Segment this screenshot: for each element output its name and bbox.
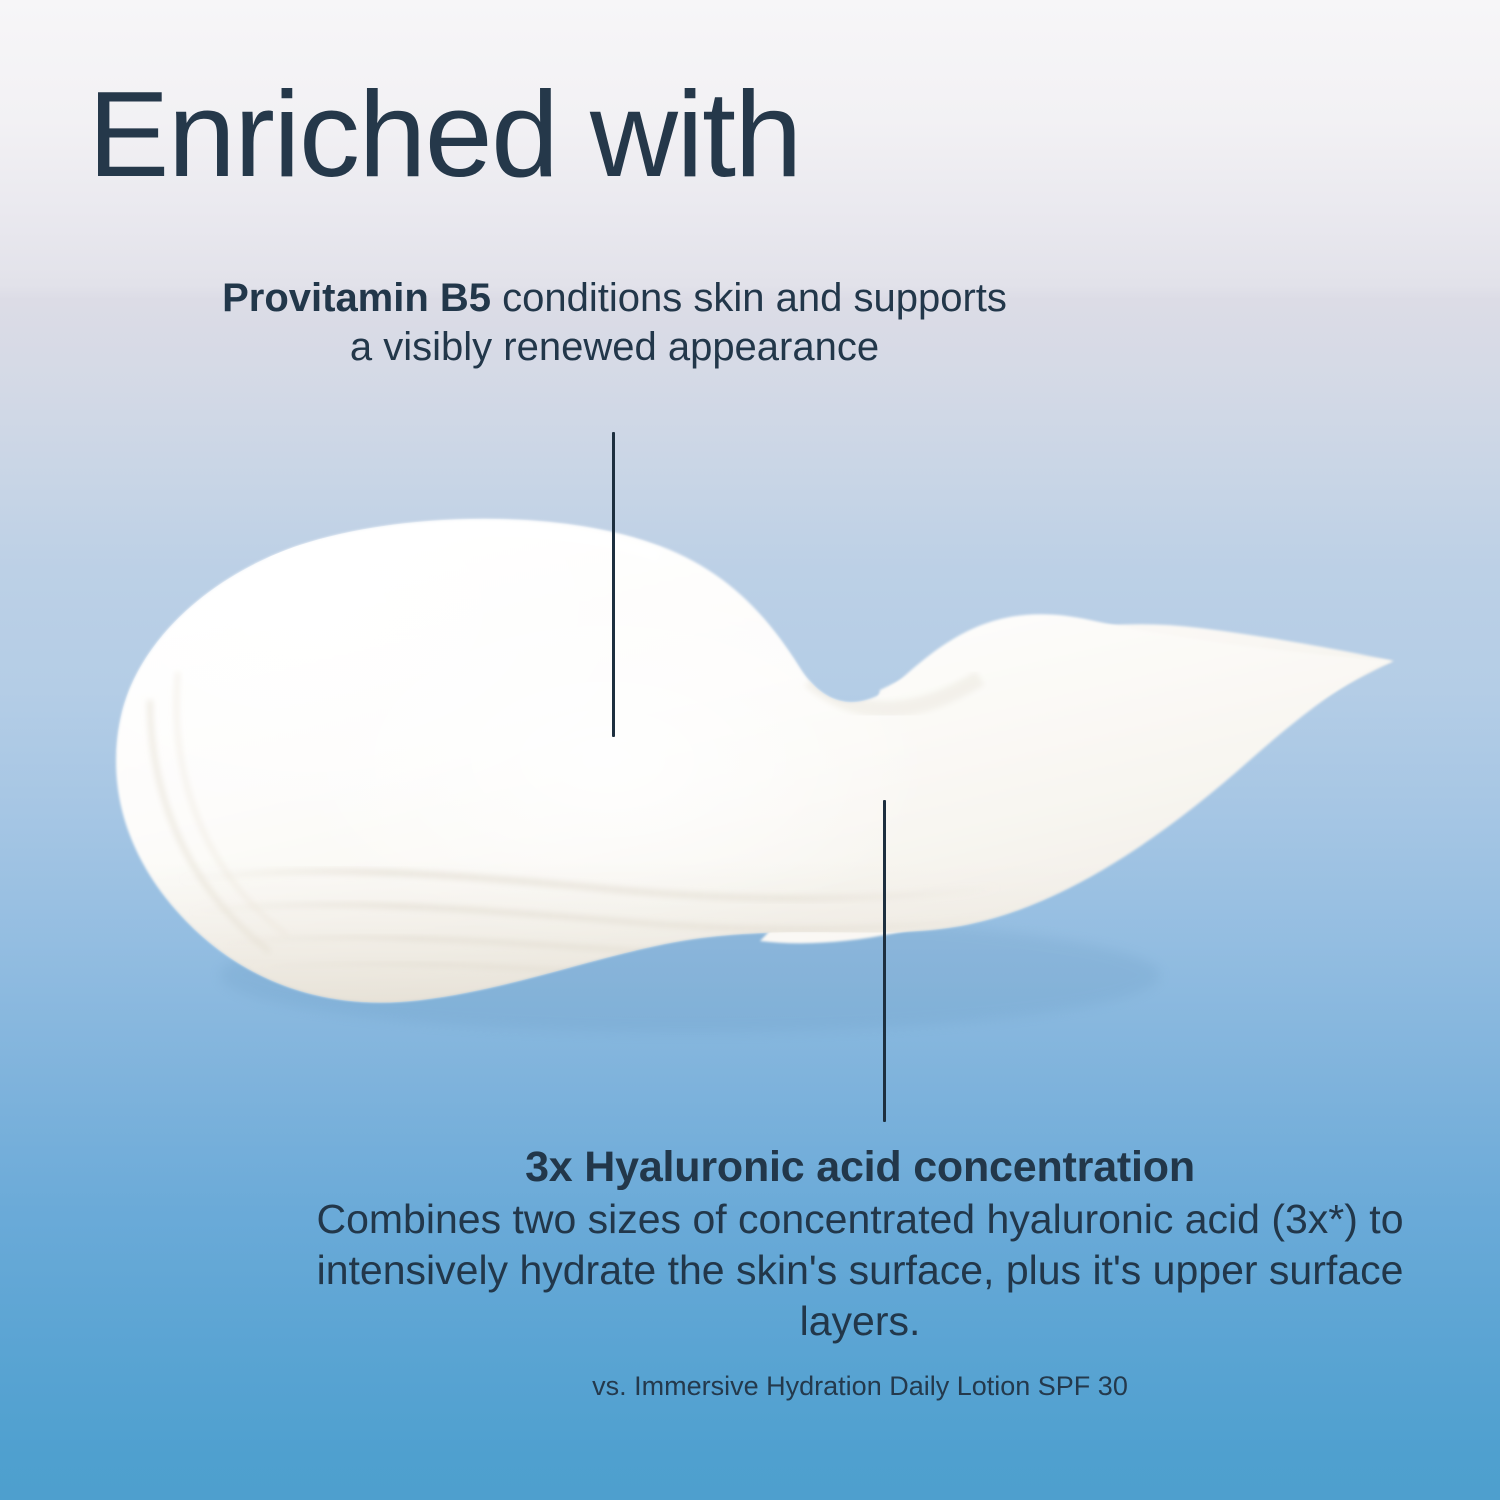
page-title: Enriched with bbox=[88, 73, 801, 195]
callout-ha-body: Combines two sizes of concentrated hyalu… bbox=[316, 1196, 1403, 1344]
leader-line-hyaluronic-acid bbox=[883, 800, 886, 1122]
callout-b5-lead: Provitamin B5 bbox=[222, 276, 491, 320]
swatch-shading bbox=[100, 490, 1100, 1020]
product-feature-image: Enriched with Provitamin B5 conditions s… bbox=[0, 0, 1500, 1500]
leader-line-provitamin-b5 bbox=[612, 432, 615, 737]
swatch-body bbox=[116, 519, 1392, 1003]
callout-hyaluronic-acid: 3x Hyaluronic acid concentrationCombines… bbox=[300, 1140, 1420, 1347]
swatch-tail bbox=[760, 624, 1394, 943]
callout-ha-heading: 3x Hyaluronic acid concentration bbox=[300, 1140, 1420, 1194]
callout-provitamin-b5: Provitamin B5 conditions skin and suppor… bbox=[222, 274, 1007, 372]
swatch-shadow bbox=[220, 917, 1160, 1033]
footnote-disclaimer: vs. Immersive Hydration Daily Lotion SPF… bbox=[300, 1371, 1420, 1402]
